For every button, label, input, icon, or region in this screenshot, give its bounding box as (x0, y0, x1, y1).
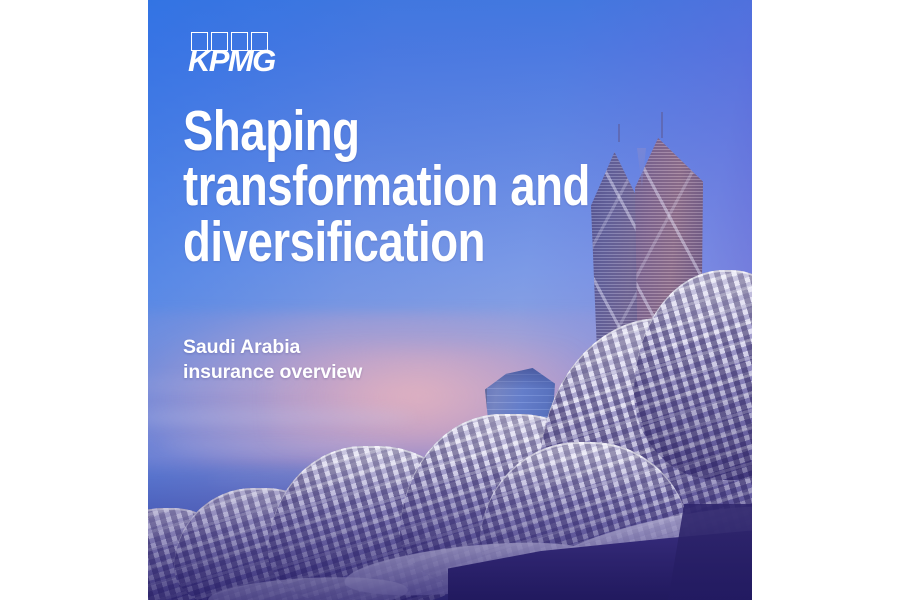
page-subtitle-line-2: insurance overview (183, 360, 362, 385)
page-title-line-2: transformation and (183, 159, 519, 214)
page-title-line-3: diversification (183, 215, 519, 270)
left-white-margin (0, 0, 148, 600)
kpmg-logo[interactable]: KPMG (188, 32, 274, 78)
page-title-line-1: Shaping (183, 104, 519, 159)
page-title: Shaping transformation and diversificati… (183, 104, 603, 270)
cover-artwork: KPMG Shaping transformation and diversif… (148, 0, 752, 600)
kpmg-wordmark: KPMG (188, 45, 275, 76)
report-cover-page: KPMG Shaping transformation and diversif… (0, 0, 900, 600)
page-subtitle-line-1: Saudi Arabia (183, 335, 362, 360)
page-subtitle: Saudi Arabia insurance overview (183, 335, 362, 384)
antenna-mast (618, 124, 620, 142)
right-white-margin (752, 0, 900, 600)
bottom-vignette (148, 456, 752, 600)
antenna-mast (661, 112, 663, 138)
